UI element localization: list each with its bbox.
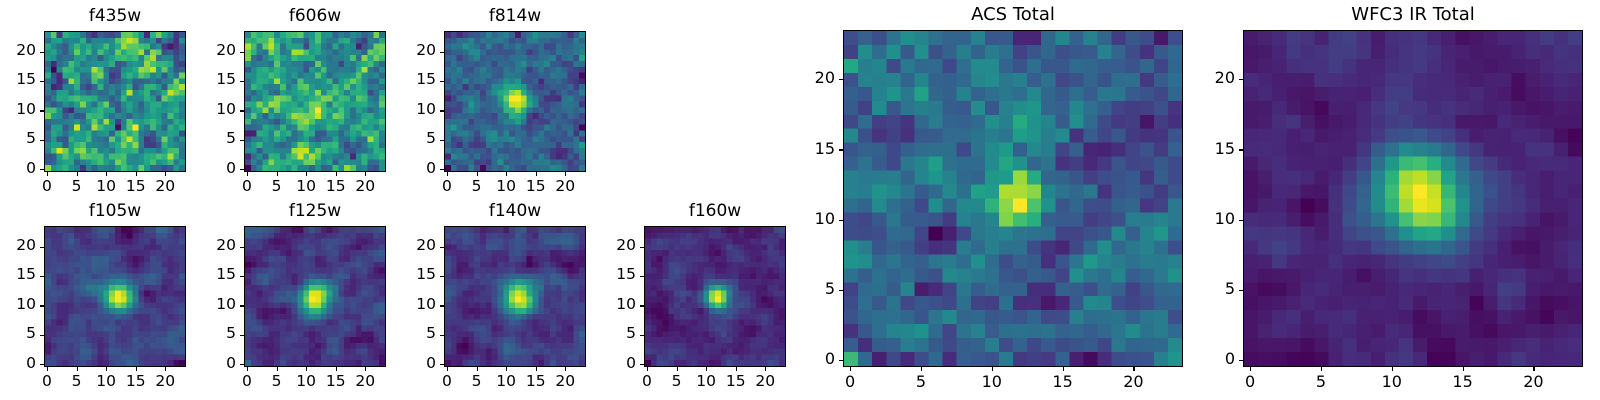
x-tick [365,367,366,371]
y-tick-label: 10 [0,102,36,118]
y-tick [839,79,843,80]
y-tick [440,364,444,365]
y-tick [1239,149,1243,150]
y-tick [839,220,843,221]
y-tick [640,276,644,277]
x-tick [77,367,78,371]
y-tick-label: 0 [376,161,436,177]
y-tick-label: 20 [0,238,36,254]
x-tick [565,172,566,176]
y-tick [1239,79,1243,80]
x-tick [565,367,566,371]
y-tick-label: 5 [0,131,36,147]
y-tick-label: 15 [176,72,236,88]
x-tick [47,172,48,176]
y-tick-label: 0 [0,356,36,372]
y-tick-label: 10 [1175,211,1235,227]
panel-title-f140w: f140w [444,203,586,220]
x-tick [336,367,337,371]
y-tick-label: 5 [176,326,236,342]
heatmap-f606w [244,31,386,172]
x-tick-label: 20 [745,374,785,390]
y-tick-label: 15 [0,267,36,283]
y-tick-label: 5 [176,131,236,147]
y-tick-label: 20 [576,238,636,254]
y-tick-label: 20 [0,43,36,59]
heatmap-f105w [44,226,186,367]
x-tick-label: 5 [901,374,941,390]
y-tick-label: 0 [176,356,236,372]
x-tick [850,367,851,371]
y-tick [839,149,843,150]
x-tick-label: 10 [1372,374,1412,390]
y-tick [440,247,444,248]
y-tick-label: 10 [775,211,835,227]
y-tick [839,360,843,361]
y-tick [440,276,444,277]
y-tick [240,276,244,277]
x-tick [1063,367,1064,371]
x-tick [447,172,448,176]
y-tick-label: 20 [376,43,436,59]
y-tick [40,52,44,53]
x-tick-label: 20 [1113,374,1153,390]
y-tick-label: 20 [376,238,436,254]
x-tick [277,172,278,176]
y-tick-label: 15 [176,267,236,283]
y-tick-label: 10 [376,102,436,118]
y-tick [240,364,244,365]
x-tick [1463,367,1464,371]
y-tick-label: 10 [376,297,436,313]
y-tick [440,81,444,82]
y-tick-label: 10 [576,297,636,313]
y-tick [1239,290,1243,291]
panel-title-f105w: f105w [44,203,186,220]
x-tick [336,172,337,176]
y-tick [640,335,644,336]
y-tick-label: 15 [376,72,436,88]
heatmap-f125w [244,226,386,367]
x-tick [506,367,507,371]
y-tick-label: 0 [176,161,236,177]
y-tick [40,110,44,111]
x-tick-label: 10 [972,374,1012,390]
x-tick [365,172,366,176]
x-tick-label: 20 [145,374,185,390]
y-tick [640,364,644,365]
heatmap-f140w [444,226,586,367]
panel-title-f160w: f160w [644,203,786,220]
y-tick [40,305,44,306]
y-tick-label: 15 [576,267,636,283]
y-tick-label: 20 [176,238,236,254]
x-tick-label: 0 [1230,374,1270,390]
y-tick-label: 5 [1175,281,1235,297]
y-tick [240,110,244,111]
x-tick [706,367,707,371]
x-tick [306,172,307,176]
y-tick [40,169,44,170]
y-tick-label: 0 [775,351,835,367]
x-tick-label: 20 [545,179,585,195]
y-tick-label: 15 [376,267,436,283]
heatmap-wfc3-ir-total [1243,30,1583,367]
x-tick [106,172,107,176]
x-tick [277,367,278,371]
y-tick [240,169,244,170]
x-tick [1133,367,1134,371]
x-tick [1533,367,1534,371]
x-tick [536,172,537,176]
panel-title-f606w: f606w [244,8,386,25]
heatmap-f160w [644,226,786,367]
y-tick [839,290,843,291]
y-tick [40,247,44,248]
y-tick [440,169,444,170]
x-tick-label: 20 [1513,374,1553,390]
y-tick [1239,360,1243,361]
heatmap-f435w [44,31,186,172]
y-tick-label: 5 [376,326,436,342]
y-tick [640,247,644,248]
x-tick [165,367,166,371]
panel-title-wfc3-ir-total: WFC3 IR Total [1243,6,1583,24]
y-tick-label: 10 [176,297,236,313]
y-tick [240,52,244,53]
x-tick [47,367,48,371]
y-tick-label: 0 [376,356,436,372]
x-tick [736,367,737,371]
y-tick-label: 20 [176,43,236,59]
y-tick [240,140,244,141]
y-tick [240,335,244,336]
x-tick [77,172,78,176]
y-tick-label: 5 [576,326,636,342]
y-tick [1239,220,1243,221]
x-tick [1321,367,1322,371]
y-tick-label: 0 [1175,351,1235,367]
x-tick-label: 20 [345,374,385,390]
x-tick [136,367,137,371]
y-tick-label: 5 [0,326,36,342]
y-tick [440,52,444,53]
figure-canvas: f435w0510152005101520f606w05101520051015… [0,0,1600,400]
y-tick [40,276,44,277]
y-tick [440,140,444,141]
x-tick [647,367,648,371]
x-tick [306,367,307,371]
x-tick [677,367,678,371]
x-tick [477,172,478,176]
x-tick [447,367,448,371]
y-tick-label: 5 [376,131,436,147]
x-tick-label: 20 [345,179,385,195]
panel-title-acs-total: ACS Total [843,6,1183,24]
x-tick-label: 15 [1043,374,1083,390]
y-tick-label: 0 [576,356,636,372]
y-tick-label: 15 [775,141,835,157]
y-tick [440,110,444,111]
x-tick [992,367,993,371]
y-tick [440,305,444,306]
x-tick [506,172,507,176]
x-tick-label: 15 [1443,374,1483,390]
x-tick [921,367,922,371]
x-tick [765,367,766,371]
y-tick [40,364,44,365]
y-tick [640,305,644,306]
x-tick [247,367,248,371]
y-tick-label: 10 [0,297,36,313]
y-tick [440,335,444,336]
x-tick-label: 20 [145,179,185,195]
x-tick [106,367,107,371]
x-tick [165,172,166,176]
x-tick [536,367,537,371]
x-tick-label: 5 [1301,374,1341,390]
x-tick [1392,367,1393,371]
y-tick-label: 0 [0,161,36,177]
x-tick-label: 0 [830,374,870,390]
y-tick-label: 20 [1175,70,1235,86]
x-tick [477,367,478,371]
y-tick [40,81,44,82]
x-tick [247,172,248,176]
panel-title-f125w: f125w [244,203,386,220]
panel-title-f435w: f435w [44,8,186,25]
x-tick [136,172,137,176]
panel-title-f814w: f814w [444,8,586,25]
heatmap-acs-total [843,30,1183,367]
heatmap-f814w [444,31,586,172]
x-tick-label: 20 [545,374,585,390]
y-tick-label: 15 [0,72,36,88]
y-tick [240,81,244,82]
y-tick-label: 15 [1175,141,1235,157]
y-tick [240,305,244,306]
x-tick [1250,367,1251,371]
y-tick-label: 10 [176,102,236,118]
y-tick [240,247,244,248]
y-tick-label: 20 [775,70,835,86]
y-tick-label: 5 [775,281,835,297]
y-tick [40,140,44,141]
y-tick [40,335,44,336]
